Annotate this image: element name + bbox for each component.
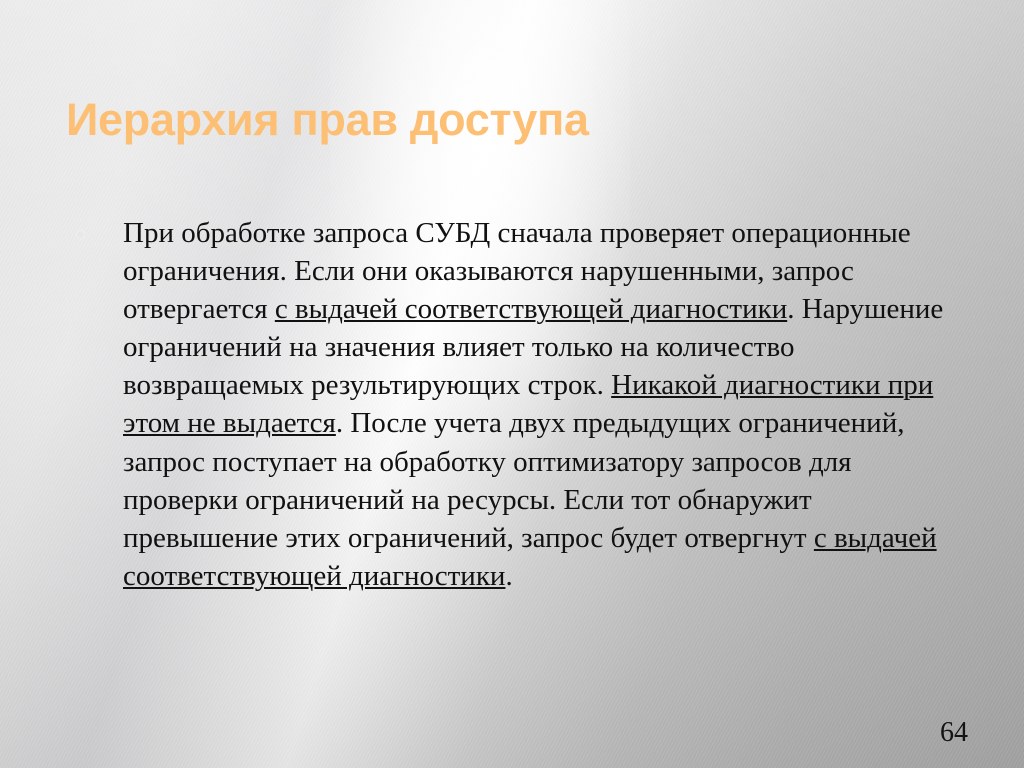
slide-body: При обработке запроса СУБД сначала прове…: [70, 185, 960, 624]
plain-text: .: [505, 560, 512, 592]
bullet-point-icon: [77, 231, 84, 238]
emphasis-underlined-text: с выдачей соответствующей диагностики: [275, 293, 787, 325]
bullet-list-item: При обработке запроса СУБД сначала прове…: [70, 214, 960, 595]
body-paragraph: При обработке запроса СУБД сначала прове…: [123, 214, 960, 595]
slide-title: Иерархия прав доступа: [66, 93, 966, 147]
presentation-slide: Иерархия прав доступа При обработке запр…: [0, 0, 1024, 768]
slide-page-number: 64: [940, 717, 968, 749]
